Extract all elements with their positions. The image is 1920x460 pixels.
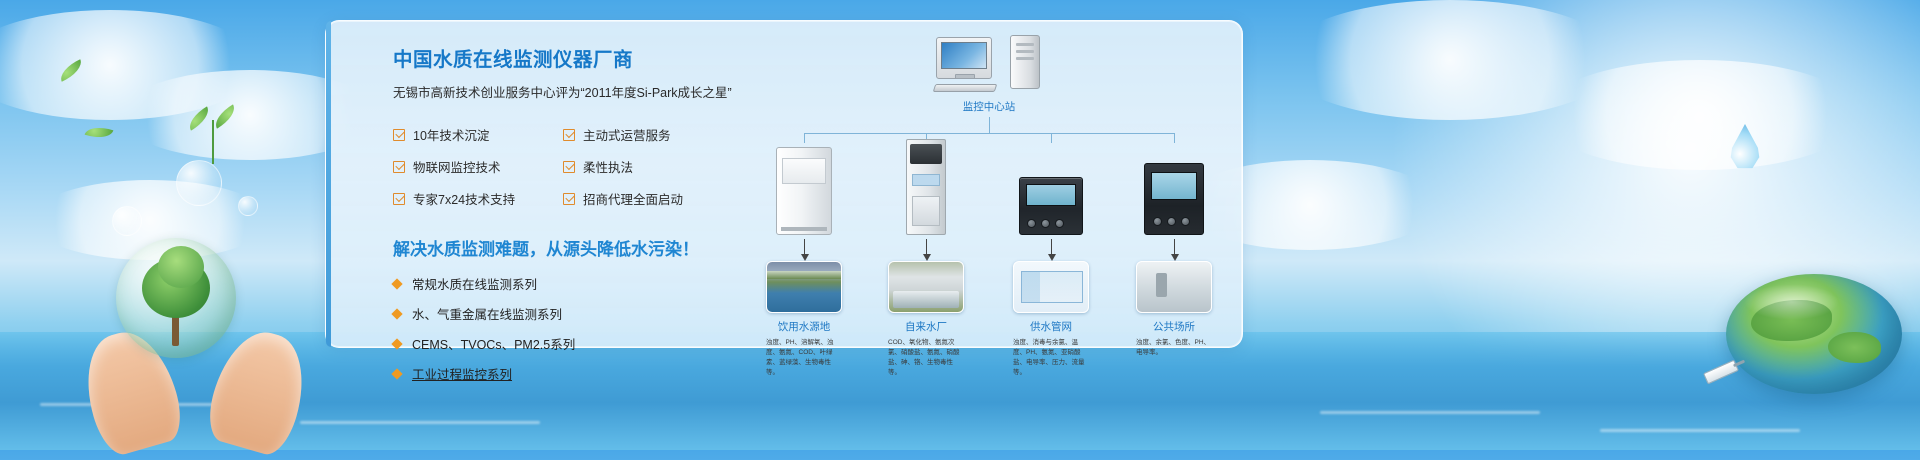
product-series-list: 常规水质在线监测系列 水、气重金属在线监测系列 CEMS、TVOCs、PM2.5… <box>393 274 793 383</box>
controller-lcd <box>1026 184 1076 206</box>
water-streak-4 <box>1600 429 1800 432</box>
earth-gloss <box>1744 284 1839 320</box>
scenario-title: 饮用水源地 <box>766 319 842 334</box>
connector-horizontal-bus <box>804 133 1174 134</box>
diamond-bullet-icon <box>391 368 402 379</box>
checkbox-checked-icon <box>393 129 405 141</box>
bubble-3 <box>238 196 258 216</box>
monitor-screen <box>941 42 987 69</box>
checklist-item: 专家7x24技术支持 <box>393 189 563 208</box>
list-item-label: 常规水质在线监测系列 <box>412 274 537 293</box>
checklist-item-label: 10年技术沉淀 <box>413 125 489 144</box>
monitor-stand <box>955 74 975 79</box>
controller-button[interactable] <box>1055 219 1064 228</box>
scenario-description: 浊度、PH、溶解氧、浊度、氨氮、COD、叶绿素、蓝绿藻、生物毒性等。 <box>766 338 842 378</box>
list-item[interactable]: 水、气重金属在线监测系列 <box>393 304 793 323</box>
analyzer-display <box>912 174 940 186</box>
controller-button[interactable] <box>1027 219 1036 228</box>
scenario-description: 浊度、余氯、色度、PH、电导率。 <box>1136 338 1212 358</box>
computer-icon <box>934 35 1044 89</box>
controller-button[interactable] <box>1167 217 1176 226</box>
water-streak-2 <box>300 421 540 424</box>
monitoring-center-node: 监控中心站 <box>934 35 1044 114</box>
tower-slot <box>1016 43 1034 46</box>
checklist-item-label: 主动式运营服务 <box>583 125 671 144</box>
arrow-down-icon <box>1051 239 1052 255</box>
diamond-bullet-icon <box>391 308 402 319</box>
list-item-label: 水、气重金属在线监测系列 <box>412 304 562 323</box>
left-text-column: 中国水质在线监测仪器厂商 无锡市高新技术创业服务中心评为“2011年度Si-Pa… <box>393 43 793 394</box>
checklist-item-label: 柔性执法 <box>583 157 633 176</box>
list-item[interactable]: 工业过程监控系列 <box>393 364 793 383</box>
checklist-item: 主动式运营服务 <box>563 125 733 144</box>
scenario-title: 公共场所 <box>1136 319 1212 334</box>
tower-slot <box>1016 50 1034 53</box>
checkbox-checked-icon <box>563 161 575 173</box>
scenario-title: 自来水厂 <box>888 319 964 334</box>
tower-slot <box>1016 57 1034 60</box>
diamond-bullet-icon <box>391 278 402 289</box>
cabinet-panel <box>782 158 826 184</box>
scenario-photo-pipe-network <box>1013 261 1089 313</box>
checklist-item-label: 专家7x24技术支持 <box>413 189 515 208</box>
list-item-label: 工业过程监控系列 <box>412 364 512 383</box>
green-earth-illustration <box>1726 274 1902 394</box>
pc-tower-icon <box>1010 35 1040 89</box>
water-streak-3 <box>1320 411 1540 414</box>
controller-button[interactable] <box>1153 217 1162 226</box>
list-item[interactable]: CEMS、TVOCs、PM2.5系列 <box>393 334 793 353</box>
arrow-down-icon <box>926 239 927 255</box>
checklist-item: 柔性执法 <box>563 157 733 176</box>
cabinet-base <box>781 227 827 231</box>
controller-buttons <box>1153 217 1190 226</box>
checklist-item: 招商代理全面启动 <box>563 189 733 208</box>
checklist-item-label: 物联网监控技术 <box>413 157 501 176</box>
checkbox-checked-icon <box>563 129 575 141</box>
leaf-icon-1 <box>56 59 85 81</box>
checkbox-checked-icon <box>563 193 575 205</box>
controller-icon <box>1144 163 1204 235</box>
section-heading: 解决水质监测难题，从源头降低水污染！ <box>393 235 793 260</box>
device-tall-analyzer <box>906 139 946 235</box>
leaf-icon-3 <box>184 106 213 130</box>
device-controller-a <box>1019 177 1083 235</box>
tree-crown-highlight <box>158 246 204 288</box>
controller-button[interactable] <box>1181 217 1190 226</box>
monitoring-topology-diagram: 监控中心站 <box>766 35 1216 335</box>
scenario-tile[interactable]: 供水管网 浊度、消毒与余氯、温度、PH、氨氮、亚硝酸盐、电导率、压力、流量等。 <box>1013 261 1089 378</box>
controller-button[interactable] <box>1041 219 1050 228</box>
scenario-description: 浊度、消毒与余氯、温度、PH、氨氮、亚硝酸盐、电导率、压力、流量等。 <box>1013 338 1089 378</box>
page-subtitle: 无锡市高新技术创业服务中心评为“2011年度Si-Park成长之星” <box>393 82 793 101</box>
connector-vertical-main <box>989 117 990 133</box>
analyzer-body <box>912 196 940 226</box>
controller-icon <box>1019 177 1083 235</box>
analyzer-head <box>910 144 942 164</box>
list-item[interactable]: 常规水质在线监测系列 <box>393 274 793 293</box>
device-water-cabinet <box>776 147 832 235</box>
page-title: 中国水质在线监测仪器厂商 <box>393 43 793 72</box>
sprout-stem-1 <box>212 120 214 164</box>
checklist-item-label: 招商代理全面启动 <box>583 189 683 208</box>
tall-analyzer-icon <box>906 139 946 235</box>
device-row <box>766 139 1216 235</box>
scenario-description: COD、氧化物、氨氮次氯、硝酸盐、氨氮、硝酸盐、砷、铬、生物毒性等。 <box>888 338 964 378</box>
scenario-photo-public-place <box>1136 261 1212 313</box>
checklist-item: 10年技术沉淀 <box>393 125 563 144</box>
scenario-title: 供水管网 <box>1013 319 1089 334</box>
controller-lcd <box>1151 172 1197 200</box>
monitoring-center-label: 监控中心站 <box>934 99 1044 114</box>
checkbox-checked-icon <box>393 193 405 205</box>
leaf-icon-2 <box>85 122 114 142</box>
scenario-photo-water-source <box>766 261 842 313</box>
feature-checklist: 10年技术沉淀 主动式运营服务 物联网监控技术 柔性执法 专家7x24技术支持 … <box>393 125 793 208</box>
cabinet-analyzer-icon <box>776 147 832 235</box>
cloud-1 <box>0 10 260 120</box>
leaf-icon-4 <box>210 104 239 128</box>
monitor-icon <box>936 37 992 79</box>
controller-buttons <box>1027 219 1064 228</box>
checklist-item: 物联网监控技术 <box>393 157 563 176</box>
hands-holding-tree-illustration <box>70 220 320 450</box>
arrow-down-icon <box>804 239 805 255</box>
diamond-bullet-icon <box>391 338 402 349</box>
scenario-photo-water-plant <box>888 261 964 313</box>
right-palm <box>201 322 316 459</box>
earth-landmass-2 <box>1828 332 1881 363</box>
scenario-tile[interactable]: 饮用水源地 浊度、PH、溶解氧、浊度、氨氮、COD、叶绿素、蓝绿藻、生物毒性等。 <box>766 261 842 378</box>
scenario-tile[interactable]: 公共场所 浊度、余氯、色度、PH、电导率。 <box>1136 261 1212 358</box>
scenario-tile[interactable]: 自来水厂 COD、氧化物、氨氮次氯、硝酸盐、氨氮、硝酸盐、砷、铬、生物毒性等。 <box>888 261 964 378</box>
checkbox-checked-icon <box>393 161 405 173</box>
arrow-down-icon <box>1174 239 1175 255</box>
keyboard-icon <box>933 84 998 92</box>
device-controller-b <box>1144 163 1204 235</box>
list-item-label: CEMS、TVOCs、PM2.5系列 <box>412 334 575 353</box>
main-content-panel: 中国水质在线监测仪器厂商 无锡市高新技术创业服务中心评为“2011年度Si-Pa… <box>325 20 1243 348</box>
bubble-1 <box>176 160 222 206</box>
